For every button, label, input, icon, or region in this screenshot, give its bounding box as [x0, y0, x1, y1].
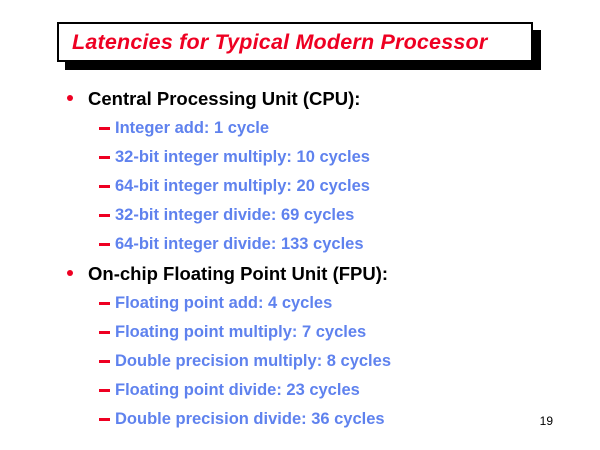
list-item-label: Floating point multiply: 7 cycles [115, 323, 366, 341]
list-item-label: 32-bit integer multiply: 10 cycles [115, 148, 370, 166]
list-item: Floating point add: 4 cycles [0, 291, 600, 320]
list-item-label: 64-bit integer divide: 133 cycles [115, 235, 364, 253]
section-heading-fpu: On-chip Floating Point Unit (FPU): [0, 261, 600, 290]
slide-body: Central Processing Unit (CPU): Integer a… [0, 86, 600, 436]
slide-title-block: Latencies for Typical Modern Processor [57, 22, 533, 62]
dash-marker-icon [99, 185, 110, 188]
dash-marker-icon [99, 214, 110, 217]
section-heading-cpu: Central Processing Unit (CPU): [0, 86, 600, 115]
list-item-label: Double precision divide: 36 cycles [115, 410, 385, 428]
list-item: Double precision divide: 36 cycles [0, 407, 600, 436]
list-item: 64-bit integer multiply: 20 cycles [0, 174, 600, 203]
list-item: 64-bit integer divide: 133 cycles [0, 232, 600, 261]
list-item: Floating point divide: 23 cycles [0, 378, 600, 407]
list-item-label: 32-bit integer divide: 69 cycles [115, 206, 354, 224]
list-item: 32-bit integer multiply: 10 cycles [0, 145, 600, 174]
section-heading-label: Central Processing Unit (CPU): [88, 88, 360, 109]
list-item: Double precision multiply: 8 cycles [0, 349, 600, 378]
bullet-dot-icon [67, 95, 73, 101]
list-item: 32-bit integer divide: 69 cycles [0, 203, 600, 232]
dash-marker-icon [99, 331, 110, 334]
list-item-label: Floating point divide: 23 cycles [115, 381, 360, 399]
list-item-label: Integer add: 1 cycle [115, 119, 269, 137]
dash-marker-icon [99, 127, 110, 130]
section-heading-label: On-chip Floating Point Unit (FPU): [88, 263, 388, 284]
dash-marker-icon [99, 302, 110, 305]
page-title: Latencies for Typical Modern Processor [59, 30, 487, 55]
dash-marker-icon [99, 156, 110, 159]
list-item: Floating point multiply: 7 cycles [0, 320, 600, 349]
list-item: Integer add: 1 cycle [0, 116, 600, 145]
bullet-dot-icon [67, 270, 73, 276]
slide-canvas: Latencies for Typical Modern Processor C… [0, 0, 600, 450]
dash-marker-icon [99, 389, 110, 392]
list-item-label: 64-bit integer multiply: 20 cycles [115, 177, 370, 195]
slide-number: 19 [540, 415, 553, 428]
title-box: Latencies for Typical Modern Processor [57, 22, 533, 62]
list-item-label: Floating point add: 4 cycles [115, 294, 332, 312]
dash-marker-icon [99, 360, 110, 363]
dash-marker-icon [99, 243, 110, 246]
list-item-label: Double precision multiply: 8 cycles [115, 352, 391, 370]
dash-marker-icon [99, 418, 110, 421]
